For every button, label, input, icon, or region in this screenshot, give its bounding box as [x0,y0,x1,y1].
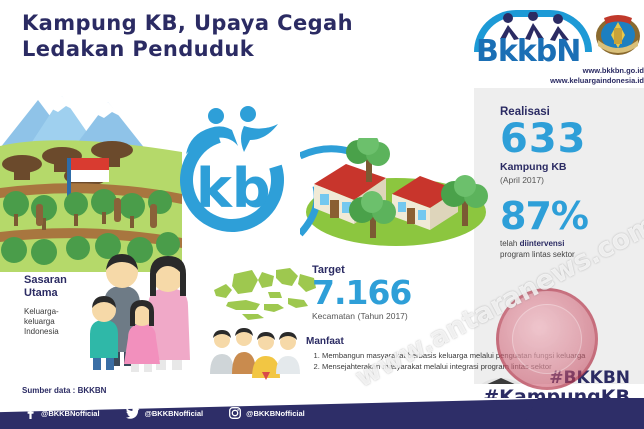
people-group-icon [208,328,304,380]
percent-note: telah diintervensi program lintas sektor [500,238,632,260]
percent-note-pre: telah [500,239,520,248]
village-illustration [0,92,182,272]
statistics-block: Realisasi 633 Kampung KB (April 2017) 87… [500,106,632,260]
sasaran-utama-block: Sasaran Utama Keluarga- keluarga Indones… [24,274,98,337]
sasaran-sub-line2: keluarga [24,317,98,327]
sasaran-subtext: Keluarga- keluarga Indonesia [24,307,98,337]
percent-value: 87% [500,196,632,236]
facebook-icon [24,407,36,419]
brand-wordmark: BkkbN [476,34,580,69]
illustration-stage: kb [0,88,644,384]
social-handle: @BKKBNofficial [246,409,305,418]
page-title: Kampung KB, Upaya Cegah Ledakan Penduduk [22,10,442,62]
realisasi-year: (April 2017) [500,174,632,187]
target-block: Target 7.166 Kecamatan (Tahun 2017) [312,264,482,322]
sasaran-sub-line1: Keluarga- [24,307,98,317]
website-urls: www.bkkbn.go.id www.keluargaindonesia.id [498,66,644,86]
sasaran-heading: Sasaran Utama [24,274,98,300]
national-emblem-icon [592,12,644,60]
percent-note-post: program lintas sektor [500,249,632,260]
bkkbn-logo: BkkbN www.bkkbn.go.id www.keluargaindone… [470,4,640,84]
kb-wordmark: kb [196,162,271,216]
twitter-icon [126,407,140,419]
realisasi-label-text: Kampung KB [500,161,567,173]
social-facebook[interactable]: @BKKBNofficial [24,407,100,419]
sasaran-heading-line2: Utama [24,287,98,300]
instagram-icon [229,407,241,419]
title-line-1: Kampung KB, Upaya Cegah [22,11,353,35]
target-unit-line: Kecamatan (Tahun 2017) [312,311,482,322]
header: Kampung KB, Upaya Cegah Ledakan Penduduk… [0,0,644,88]
percent-note-bold: diintervensi [520,239,565,248]
brand-wordmark-text: BkkbN [476,34,580,69]
hashtag-bkkbn: #BKKBN [430,370,630,387]
social-instagram[interactable]: @BKKBNofficial [229,407,305,419]
sasaran-heading-line1: Sasaran [24,274,98,287]
social-handle: @BKKBNofficial [145,409,204,418]
url-bkkbn: www.bkkbn.go.id [498,66,644,76]
social-links: @BKKBNofficial @BKKBNofficial @BKKBNoffi… [24,407,305,419]
family-illustration [86,248,210,373]
target-year: (Tahun 2017) [358,311,408,321]
realisasi-label: Kampung KB (April 2017) [500,161,632,187]
sasaran-sub-line3: Indonesia [24,327,98,337]
houses-illustration [300,138,490,250]
url-keluargaindonesia: www.keluargaindonesia.id [498,76,644,86]
social-handle: @BKKBNofficial [41,409,100,418]
manfaat-heading: Manfaat [306,336,626,347]
social-twitter[interactable]: @BKKBNofficial [126,407,204,419]
footer-bar: @BKKBNofficial @BKKBNofficial @BKKBNoffi… [0,398,644,429]
realisasi-value: 633 [500,119,632,159]
infographic-canvas: Kampung KB, Upaya Cegah Ledakan Penduduk… [0,0,644,429]
manfaat-block: Manfaat Membangun masyarakat berbasis ke… [306,336,626,372]
title-line-2: Ledakan Penduduk [22,36,442,62]
source-label: Sumber data : BKKBN [22,386,106,395]
target-value: 7.166 [312,276,482,310]
target-unit: Kecamatan [312,311,355,321]
kampung-kb-logo: kb [168,106,300,236]
indonesia-map-icon [212,264,320,326]
manfaat-item: Membangun masyarakat berbasis keluarga m… [322,350,626,361]
footer-wedge [518,398,644,429]
